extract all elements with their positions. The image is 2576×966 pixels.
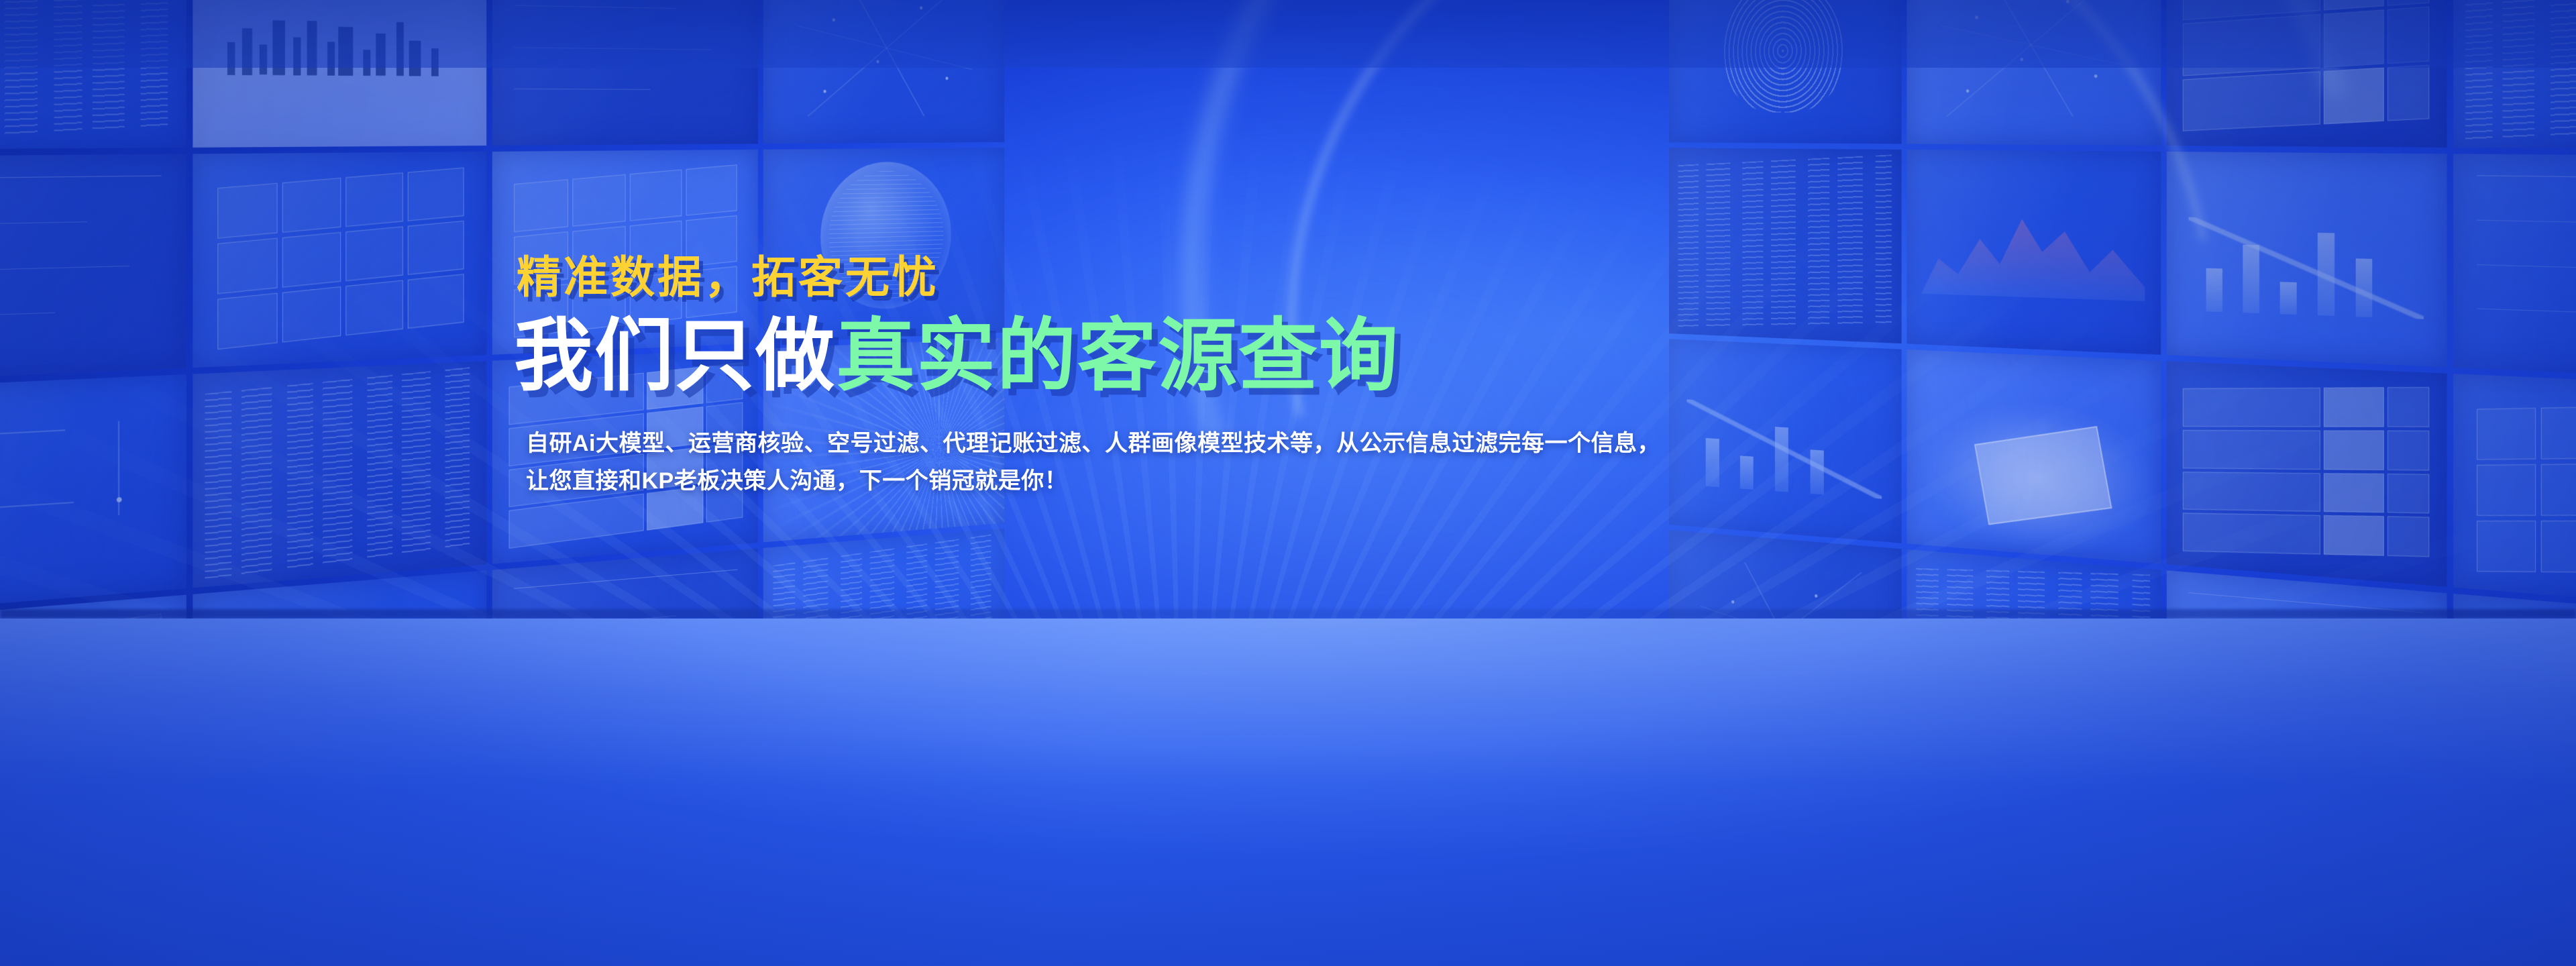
subcopy-line-2: 让您直接和KP老板决策人沟通，下一个销冠就是你！ bbox=[526, 466, 2194, 497]
page-title: 我们只做真实的客源查询 bbox=[514, 315, 2194, 398]
hero-copy: 精准数据，拓客无忧 我们只做真实的客源查询 自研Ai大模型、运营商核验、空号过滤… bbox=[517, 255, 2194, 497]
hero-banner: 精准数据，拓客无忧 我们只做真实的客源查询 自研Ai大模型、运营商核验、空号过滤… bbox=[0, 0, 2576, 966]
eyebrow-heading: 精准数据，拓客无忧 bbox=[517, 255, 2194, 299]
headline-part-mint: 真实的客源查询 bbox=[836, 312, 1399, 400]
subcopy-line-1: 自研Ai大模型、运营商核验、空号过滤、代理记账过滤、人群画像模型技术等，从公示信… bbox=[526, 429, 2194, 460]
headline-part-white: 我们只做 bbox=[514, 312, 836, 400]
subcopy-block: 自研Ai大模型、运营商核验、空号过滤、代理记账过滤、人群画像模型技术等，从公示信… bbox=[526, 429, 2194, 497]
